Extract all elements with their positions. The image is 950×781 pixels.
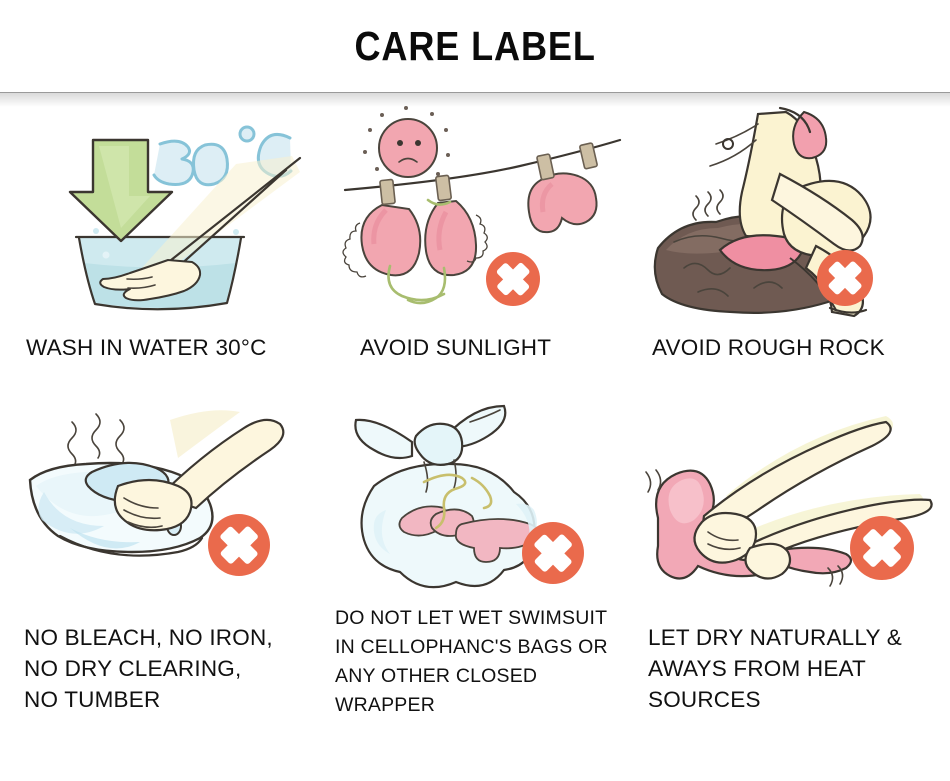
prohibited-x-icon xyxy=(522,522,584,584)
prohibited-x-icon xyxy=(850,516,914,580)
care-symbol-grid: WASH IN WATER 30°C xyxy=(0,100,950,781)
prohibited-x-icon xyxy=(486,252,540,306)
panel-avoid-rough-rock: AVOID ROUGH ROCK xyxy=(640,100,950,390)
panel-caption: NO BLEACH, NO IRON, NO DRY CLEARING, NO … xyxy=(24,622,273,715)
icon-hands-wringing-swimsuit xyxy=(630,400,950,600)
panel-no-wet-swimsuit-in-bag: DO NOT LET WET SWIMSUIT IN CELLOPHANC'S … xyxy=(320,400,640,781)
icon-tied-plastic-bag-with-swimsuit xyxy=(320,400,640,600)
panel-caption: LET DRY NATURALLY & AWAYS FROM HEAT SOUR… xyxy=(648,622,902,715)
header: CARE LABEL xyxy=(0,0,950,92)
panel-caption: WASH IN WATER 30°C xyxy=(26,332,267,363)
panel-caption: DO NOT LET WET SWIMSUIT IN CELLOPHANC'S … xyxy=(335,604,608,720)
care-label-infographic: CARE LABEL xyxy=(0,0,950,781)
icon-hand-holding-steam-iron xyxy=(0,400,320,600)
prohibited-x-icon xyxy=(208,514,270,576)
panel-wash-in-water: WASH IN WATER 30°C xyxy=(0,100,320,390)
icon-clothesline-with-swimsuit-and-sad-sun xyxy=(320,100,640,335)
page-title: CARE LABEL xyxy=(354,23,595,70)
panel-caption: AVOID ROUGH ROCK xyxy=(652,332,885,363)
panel-let-dry-naturally: LET DRY NATURALLY & AWAYS FROM HEAT SOUR… xyxy=(630,400,950,781)
icon-basin-with-hand-and-green-arrow xyxy=(0,100,320,335)
icon-person-sitting-on-rough-rock xyxy=(640,100,950,335)
panel-no-bleach-no-iron: NO BLEACH, NO IRON, NO DRY CLEARING, NO … xyxy=(0,400,320,781)
panel-avoid-sunlight: AVOID SUNLIGHT xyxy=(320,100,640,390)
panel-caption: AVOID SUNLIGHT xyxy=(360,332,551,363)
prohibited-x-icon xyxy=(817,250,873,306)
